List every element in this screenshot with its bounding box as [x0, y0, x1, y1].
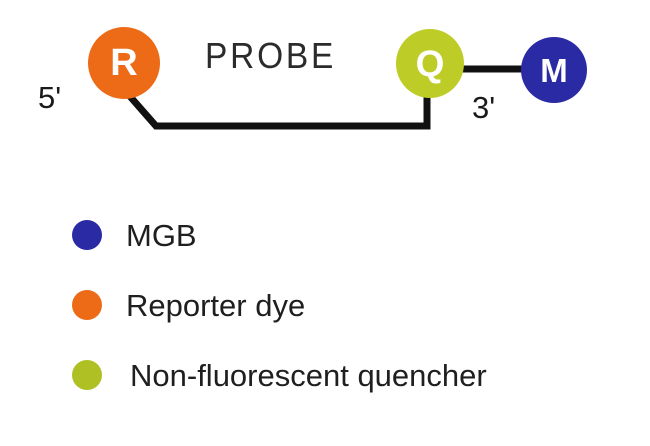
legend-item-label: Non-fluorescent quencher	[130, 360, 487, 391]
probe-text-label: PROBE	[205, 38, 336, 74]
three-prime-end-label: 3'	[472, 92, 495, 123]
legend-item-label: MGB	[126, 220, 197, 251]
reporter-dye-node: R	[88, 27, 160, 99]
reporter-dye-swatch-icon	[72, 290, 102, 320]
mgb-node: M	[521, 37, 587, 103]
legend-item-mgb: MGB	[72, 212, 197, 258]
quencher-node: Q	[396, 29, 464, 98]
mgb-swatch-icon	[72, 220, 102, 250]
legend-item-non-fluorescent-quencher: Non-fluorescent quencher	[72, 352, 487, 398]
probe-figure: R Q M 5' 3' PROBE MGB Reporter dye Non-f…	[0, 0, 650, 446]
legend-item-label: Reporter dye	[126, 290, 305, 321]
reporter-dye-node-letter: R	[110, 44, 137, 82]
mgb-node-letter: M	[540, 54, 568, 87]
legend: MGB Reporter dye Non-fluorescent quenche…	[0, 196, 650, 446]
quencher-node-letter: Q	[416, 45, 445, 82]
probe-backbone-line	[127, 93, 427, 126]
five-prime-end-label: 5'	[38, 82, 61, 113]
probe-schematic: R Q M 5' 3' PROBE	[0, 0, 650, 190]
quencher-swatch-icon	[72, 360, 102, 390]
legend-item-reporter-dye: Reporter dye	[72, 282, 305, 328]
